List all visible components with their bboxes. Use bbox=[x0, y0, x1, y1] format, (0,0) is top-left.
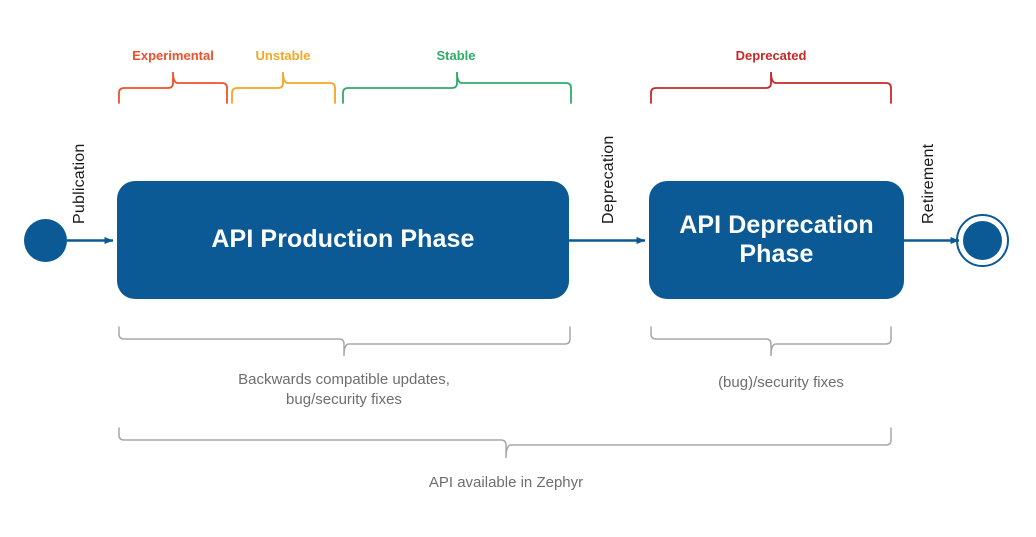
brace-deprecation-note bbox=[651, 327, 891, 356]
transition-label-deprecation: Deprecation bbox=[600, 136, 618, 224]
transition-label-publication: Publication bbox=[71, 144, 89, 224]
brace-experimental bbox=[119, 72, 227, 103]
end-node bbox=[963, 221, 1002, 260]
brace-label-unstable: Unstable bbox=[256, 48, 311, 63]
phase-box-deprecation[interactable]: API Deprecation Phase bbox=[649, 181, 904, 299]
brace-stable bbox=[343, 72, 571, 103]
api-lifecycle-diagram: Experimental Unstable Stable Deprecated … bbox=[0, 0, 1036, 537]
transition-label-retirement: Retirement bbox=[920, 144, 938, 224]
brace-deprecated bbox=[651, 72, 891, 103]
brace-production-note bbox=[119, 327, 570, 356]
annotation-deprecation-note: (bug)/security fixes bbox=[718, 373, 844, 393]
start-node bbox=[24, 219, 67, 262]
brace-unstable bbox=[232, 72, 335, 103]
annotation-production-note: Backwards compatible updates, bug/securi… bbox=[238, 370, 450, 411]
brace-availability-note bbox=[119, 428, 891, 458]
annotation-availability-note: API available in Zephyr bbox=[429, 473, 583, 493]
phase-box-production[interactable]: API Production Phase bbox=[117, 181, 569, 299]
brace-label-stable: Stable bbox=[436, 48, 475, 63]
brace-label-experimental: Experimental bbox=[132, 48, 214, 63]
brace-label-deprecated: Deprecated bbox=[736, 48, 807, 63]
